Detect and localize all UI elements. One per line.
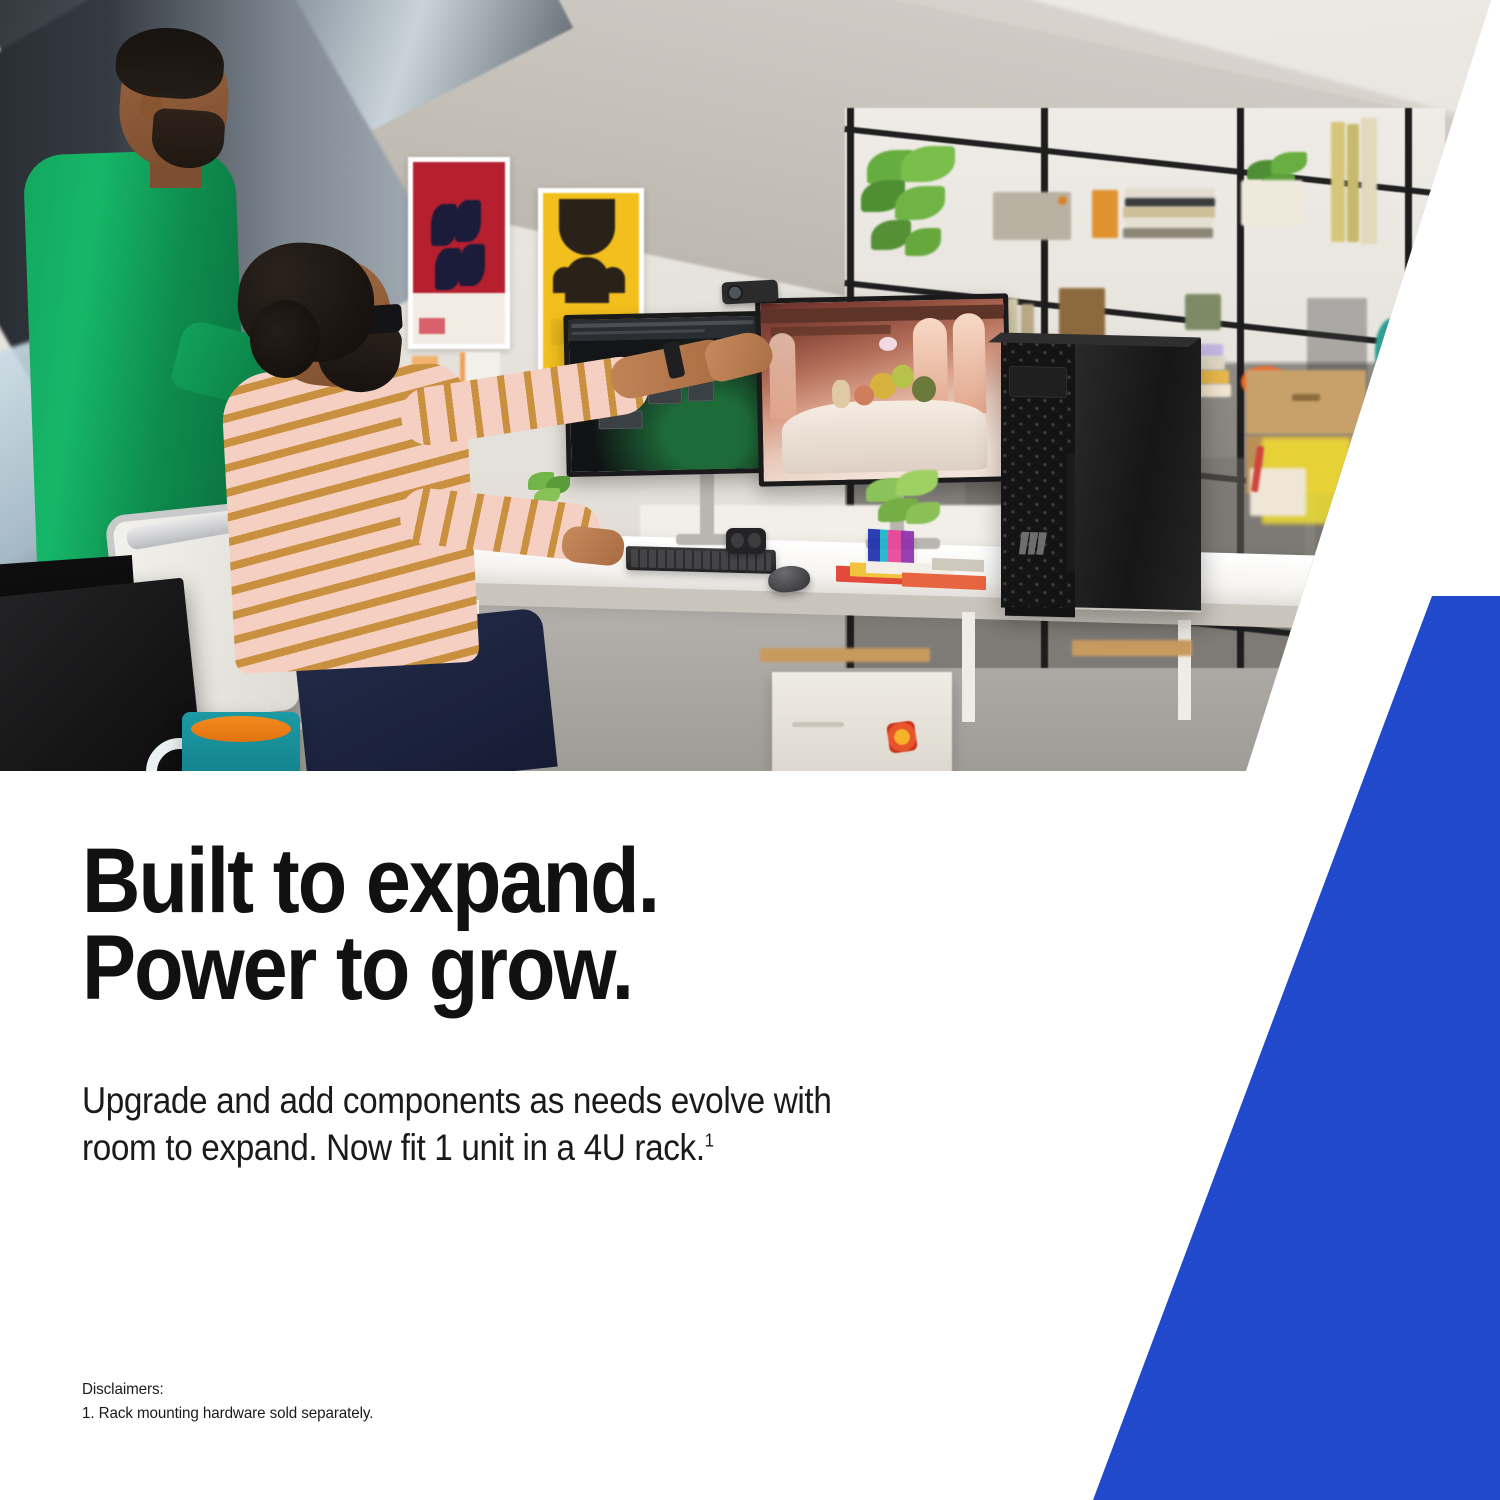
- subhead-line-1: Upgrade and add components as needs evol…: [82, 1078, 1000, 1125]
- disclaimer-item: 1. Rack mounting hardware sold separatel…: [82, 1402, 937, 1426]
- headline-line-1: Built to expand.: [82, 838, 944, 925]
- headline-line-2: Power to grow.: [82, 925, 944, 1012]
- text-content: Built to expand. Power to grow. Upgrade …: [0, 0, 1500, 1500]
- page-title: Built to expand. Power to grow.: [82, 838, 944, 1013]
- subhead-line-2: room to expand. Now fit 1 unit in a 4U r…: [82, 1125, 1000, 1172]
- disclaimers-heading: Disclaimers:: [82, 1378, 937, 1402]
- subhead-line-2-text: room to expand. Now fit 1 unit in a 4U r…: [82, 1127, 705, 1168]
- footnote-marker: 1: [705, 1129, 714, 1150]
- marketing-page: Built to expand. Power to grow. Upgrade …: [0, 0, 1500, 1500]
- disclaimers: Disclaimers: 1. Rack mounting hardware s…: [82, 1378, 937, 1426]
- subhead: Upgrade and add components as needs evol…: [82, 1078, 1000, 1171]
